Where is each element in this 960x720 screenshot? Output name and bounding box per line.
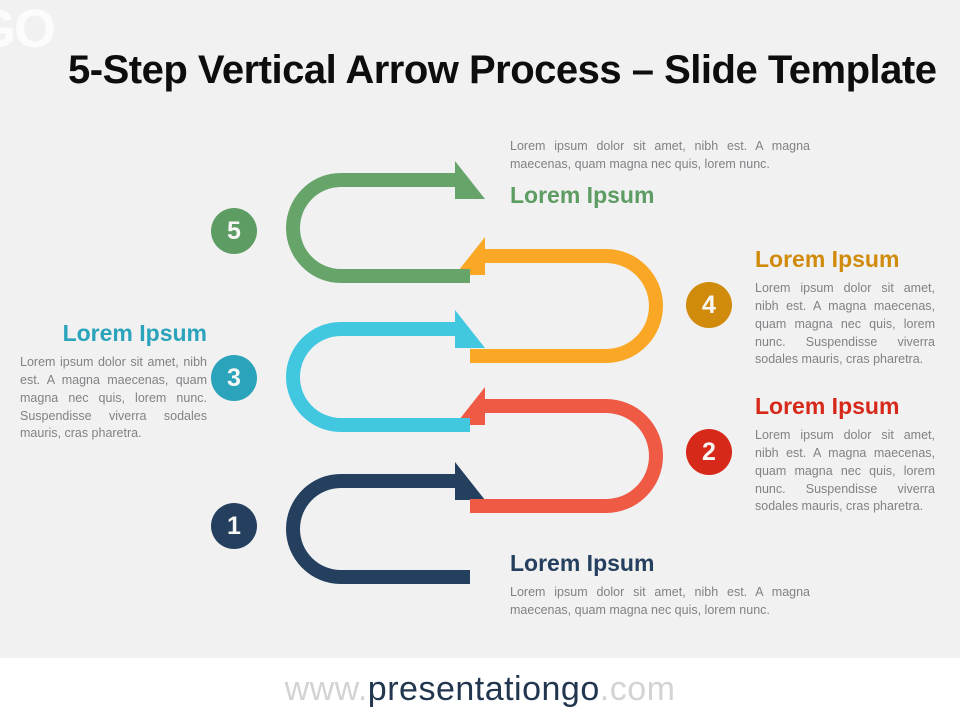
arrow-step-1[interactable] bbox=[286, 462, 485, 584]
step-4-body: Lorem ipsum dolor sit amet, nibh est. A … bbox=[755, 280, 935, 369]
step-2-body: Lorem ipsum dolor sit amet, nibh est. A … bbox=[755, 427, 935, 516]
step-badge-3[interactable]: 3 bbox=[211, 355, 257, 401]
step-text-2: Lorem Ipsum Lorem ipsum dolor sit amet, … bbox=[755, 393, 935, 516]
url-suffix: .com bbox=[600, 670, 676, 708]
arrow-step-5[interactable] bbox=[286, 161, 485, 283]
step-5-body: Lorem ipsum dolor sit amet, nibh est. A … bbox=[510, 138, 810, 174]
step-1-heading: Lorem Ipsum bbox=[510, 550, 810, 576]
step-badge-5[interactable]: 5 bbox=[211, 208, 257, 254]
url-main: presentationgo bbox=[368, 670, 600, 708]
step-badge-4[interactable]: 4 bbox=[686, 282, 732, 328]
step-badge-5-number: 5 bbox=[227, 219, 241, 244]
step-text-1: Lorem Ipsum Lorem ipsum dolor sit amet, … bbox=[510, 550, 810, 620]
step-badge-1-number: 1 bbox=[227, 514, 241, 539]
footer-bar: www.presentationgo.com bbox=[0, 658, 960, 720]
step-text-5: Lorem ipsum dolor sit amet, nibh est. A … bbox=[510, 138, 810, 208]
step-badge-1[interactable]: 1 bbox=[211, 503, 257, 549]
step-4-heading: Lorem Ipsum bbox=[755, 246, 935, 272]
arrow-step-2[interactable] bbox=[455, 387, 663, 513]
arrow-step-4[interactable] bbox=[455, 237, 663, 363]
slide-canvas: GO 5-Step Vertical Arrow Process – Slide… bbox=[0, 0, 960, 720]
step-3-heading: Lorem Ipsum bbox=[20, 320, 207, 346]
step-badge-2-number: 2 bbox=[702, 440, 716, 465]
step-5-heading: Lorem Ipsum bbox=[510, 182, 810, 208]
step-1-body: Lorem ipsum dolor sit amet, nibh est. A … bbox=[510, 584, 810, 620]
step-3-body: Lorem ipsum dolor sit amet, nibh est. A … bbox=[20, 354, 207, 443]
url-prefix: www. bbox=[285, 670, 368, 708]
step-badge-2[interactable]: 2 bbox=[686, 429, 732, 475]
step-text-4: Lorem Ipsum Lorem ipsum dolor sit amet, … bbox=[755, 246, 935, 369]
step-badge-3-number: 3 bbox=[227, 366, 241, 391]
step-text-3: Lorem Ipsum Lorem ipsum dolor sit amet, … bbox=[20, 320, 207, 443]
step-badge-4-number: 4 bbox=[702, 293, 716, 318]
step-2-heading: Lorem Ipsum bbox=[755, 393, 935, 419]
arrow-step-3[interactable] bbox=[286, 310, 485, 432]
website-url[interactable]: www.presentationgo.com bbox=[285, 670, 676, 709]
